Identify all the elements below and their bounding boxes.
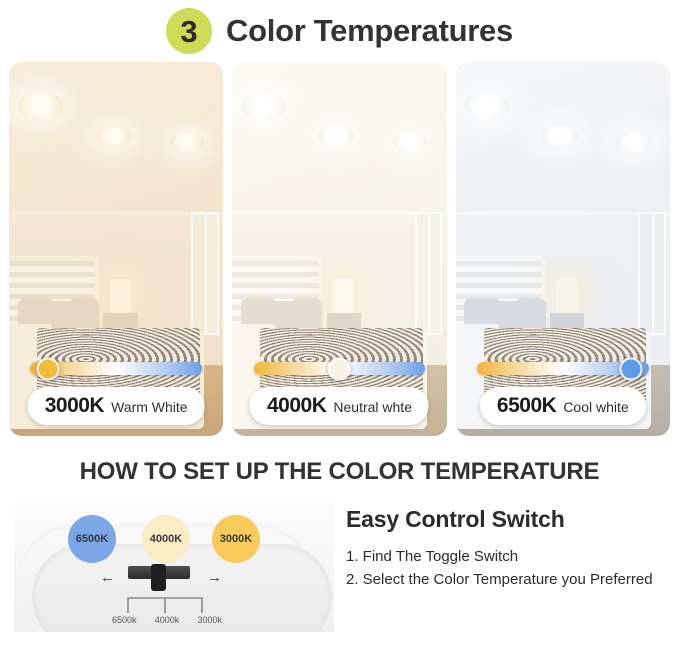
- table-lamp: [556, 279, 577, 313]
- kelvin-name: Warm White: [111, 399, 187, 415]
- step-number-badge: 3: [166, 8, 212, 54]
- toggle-lever[interactable]: [151, 564, 166, 591]
- toggle-switch[interactable]: ← →: [106, 564, 216, 594]
- instructions-block: Easy Control Switch 1. Find The Toggle S…: [346, 502, 653, 632]
- window: [638, 212, 666, 335]
- instruction-step-1: 1. Find The Toggle Switch: [346, 546, 653, 569]
- ceiling-light-icon: [170, 133, 204, 152]
- switch-position-6500k: 6500k: [112, 615, 137, 625]
- bubble-4000k: 4000K: [142, 515, 190, 563]
- page-title: Color Temperatures: [226, 13, 513, 49]
- kelvin-value: 6500K: [497, 394, 556, 418]
- toggle-switch-diagram: 6500K 4000K 3000K ← → 6500k 4000k 3000k: [14, 502, 334, 632]
- ceiling-light-icon: [541, 126, 577, 147]
- color-temperature-panels: 3000K Warm White 4000K: [0, 62, 679, 436]
- setup-section-title: HOW TO SET UP THE COLOR TEMPERATURE: [0, 436, 679, 502]
- kelvin-name: Neutral whte: [333, 399, 412, 415]
- slider-knob[interactable]: [620, 357, 643, 380]
- temperature-slider-4000k[interactable]: [254, 362, 425, 375]
- bubble-6500k: 6500K: [68, 515, 116, 563]
- ceiling-light-icon: [464, 92, 509, 120]
- kelvin-value: 4000K: [267, 394, 326, 418]
- temperature-label-3000k: 3000K Warm White: [28, 387, 205, 425]
- panel-6500k[interactable]: 6500K Cool white: [456, 62, 670, 436]
- panel-3000k[interactable]: 3000K Warm White: [9, 62, 223, 436]
- panel-4000k[interactable]: 4000K Neutral whte: [232, 62, 446, 436]
- temperature-slider-6500k[interactable]: [477, 362, 648, 375]
- ceiling-light-icon: [18, 92, 63, 120]
- setup-section: 6500K 4000K 3000K ← → 6500k 4000k 3000k …: [0, 502, 679, 632]
- table-lamp: [110, 279, 131, 313]
- instructions-title: Easy Control Switch: [346, 506, 653, 533]
- window: [415, 212, 443, 335]
- bubble-3000k: 3000K: [212, 515, 260, 563]
- ceiling-light-icon: [393, 133, 427, 152]
- instruction-step-2: 2. Select the Color Temperature you Pref…: [346, 569, 653, 592]
- temperature-label-4000k: 4000K Neutral whte: [250, 387, 429, 425]
- position-bracket-icon: [126, 594, 204, 614]
- bedroom-scene-cool: [456, 62, 670, 436]
- slider-knob[interactable]: [36, 357, 59, 380]
- window: [191, 212, 219, 335]
- kelvin-value: 3000K: [45, 394, 104, 418]
- ceiling-light-icon: [241, 92, 286, 120]
- arrow-left-icon: ←: [100, 570, 115, 585]
- temperature-slider-3000k[interactable]: [30, 362, 201, 375]
- slider-knob[interactable]: [328, 357, 351, 380]
- ceiling-light-icon: [95, 126, 131, 147]
- switch-position-3000k: 3000k: [197, 615, 222, 625]
- ceiling-light-icon: [616, 133, 650, 152]
- arrow-right-icon: →: [207, 570, 222, 585]
- switch-position-labels: 6500k 4000k 3000k: [112, 615, 222, 625]
- table-lamp: [333, 279, 354, 313]
- temperature-label-6500k: 6500K Cool white: [480, 387, 646, 425]
- switch-position-4000k: 4000k: [155, 615, 180, 625]
- page-header: 3 Color Temperatures: [0, 0, 679, 62]
- kelvin-name: Cool white: [563, 399, 628, 415]
- bedroom-scene-warm: [9, 62, 223, 436]
